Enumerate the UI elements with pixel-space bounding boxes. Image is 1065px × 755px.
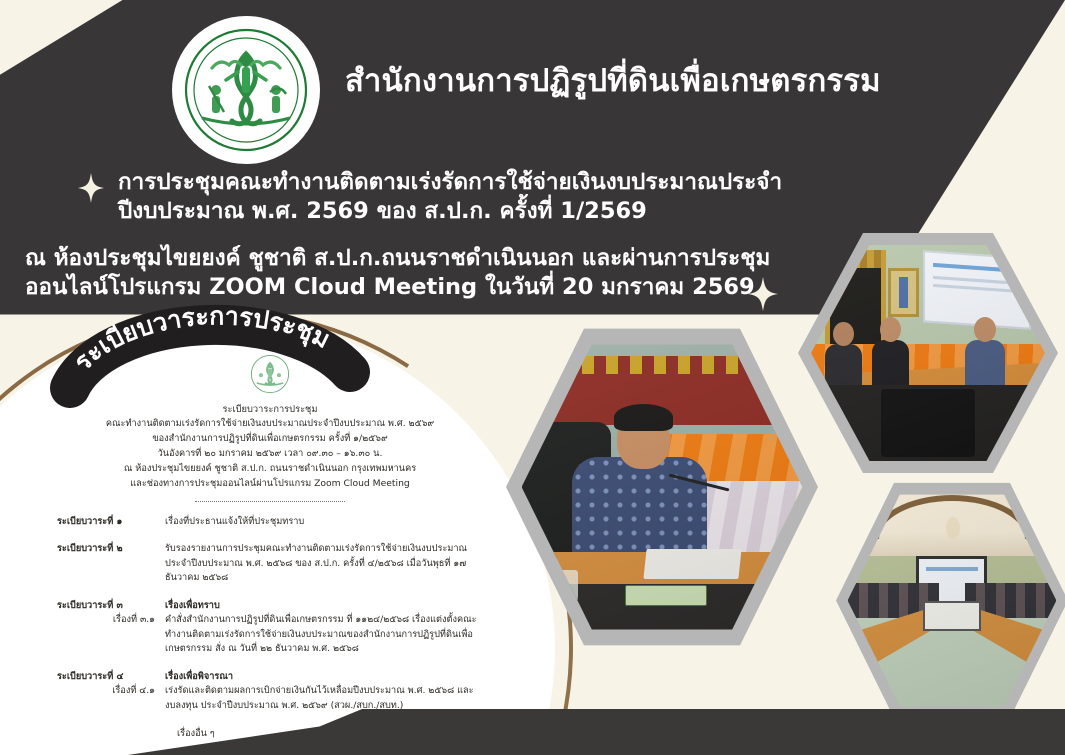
document-heading-line-1: ระเบียบวาระการประชุม xyxy=(45,402,495,417)
four-point-star-icon xyxy=(78,173,104,207)
agenda-item-sublabel: เรื่องที่ ๔.๑ xyxy=(57,684,159,698)
name-plate xyxy=(625,585,706,606)
four-point-star-icon-secondary xyxy=(748,276,778,316)
agenda-item: ระเบียบวาระที่ ๒ รับรองรายงานการประชุมคณ… xyxy=(57,542,483,586)
agenda-item-label: ระเบียบวาระที่ ๑ xyxy=(57,516,122,527)
agenda-item: ระเบียบวาระที่ ๑ เรื่องที่ประธานแจ้งให้ท… xyxy=(57,515,483,530)
meeting-title-block: การประชุมคณะทำงานติดตามเร่งรัดการใช้จ่าย… xyxy=(78,168,908,226)
agenda-item-body: รับรองรายงานการประชุมคณะทำงานติดตามเร่งร… xyxy=(165,543,467,583)
agenda-item-title: เรื่องเพื่อทราบ xyxy=(165,599,483,614)
document-heading-line-6: และช่องทางการประชุมออนไลน์ผ่านโปรแกรม Zo… xyxy=(45,477,495,492)
document-divider xyxy=(195,501,345,502)
document-content: ระเบียบวาระการประชุม คณะทำงานติดตามเร่งร… xyxy=(45,352,495,741)
agenda-item-label: ระเบียบวาระที่ ๒ xyxy=(57,543,123,554)
document-heading-line-3: ของสำนักงานการปฏิรูปที่ดินเพื่อเกษตรกรรม… xyxy=(45,432,495,447)
agenda-item: ระเบียบวาระที่ ๔ เรื่องที่ ๔.๑ เรื่องเพื… xyxy=(57,670,483,714)
alro-emblem-small-icon xyxy=(248,352,292,396)
venue-text: ณ ห้องประชุมไขยยงค์ ชูชาติ ส.ป.ก.ถนนราชด… xyxy=(25,244,815,302)
poster-canvas: สำนักงานการปฏิรูปที่ดินเพื่อเกษตรกรรม สำ… xyxy=(0,0,1065,755)
meeting-title-text: การประชุมคณะทำงานติดตามเร่งรัดการใช้จ่าย… xyxy=(118,168,888,226)
agenda-item-body: เร่งรัดและติดตามผลการเบิกจ่ายเงินกันไว้เ… xyxy=(165,685,474,711)
agenda-item-body: เรื่องที่ประธานแจ้งให้ที่ประชุมทราบ xyxy=(165,516,304,527)
agenda-item: ระเบียบวาระที่ ๓ เรื่องที่ ๓.๑ เรื่องเพื… xyxy=(57,599,483,657)
document-heading-line-5: ณ ห้องประชุมไขยยงค์ ชูชาติ ส.ป.ก. ถนนราช… xyxy=(45,462,495,477)
agenda-item-label: ระเบียบวาระที่ ๔ xyxy=(57,671,123,682)
agenda-item-title: เรื่องเพื่อพิจารณา xyxy=(165,670,483,685)
document-heading-line-4: วันอังคารที่ ๒๐ มกราคม ๒๕๖๙ เวลา ๐๙.๓๐ –… xyxy=(45,447,495,462)
alro-emblem-icon: สำนักงานการปฏิรูปที่ดินเพื่อเกษตรกรรม xyxy=(172,16,320,164)
agenda-item-sublabel: เรื่องที่ ๓.๑ xyxy=(57,613,159,627)
document-heading: ระเบียบวาระการประชุม คณะทำงานติดตามเร่งร… xyxy=(45,402,495,492)
photo-conference-hall-hexagon xyxy=(836,478,1065,723)
agenda-list: ระเบียบวาระที่ ๑ เรื่องที่ประธานแจ้งให้ท… xyxy=(45,515,495,742)
agenda-item-body: คำสั่งสำนักงานการปฏิรูปที่ดินเพื่อเกษตรก… xyxy=(165,614,477,654)
agenda-item-label: ระเบียบวาระที่ ๓ xyxy=(57,600,123,611)
organization-title: สำนักงานการปฏิรูปที่ดินเพื่อเกษตรกรรม xyxy=(345,62,965,101)
document-heading-line-2: คณะทำงานติดตามเร่งรัดการใช้จ่ายเงินงบประ… xyxy=(45,417,495,432)
